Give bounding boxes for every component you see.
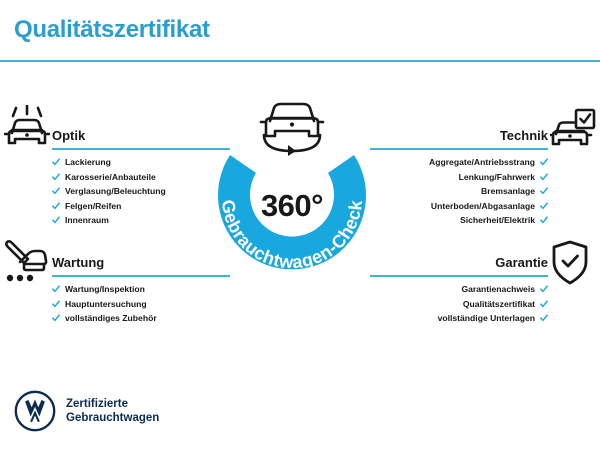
check-icon bbox=[52, 187, 60, 195]
section-garantie-title: Garantie bbox=[495, 255, 548, 270]
section-technik-title: Technik bbox=[500, 128, 548, 143]
section-technik-header: Technik bbox=[370, 128, 548, 143]
section-optik-title: Optik bbox=[52, 128, 85, 143]
check-icon bbox=[540, 173, 548, 181]
check-icon bbox=[540, 285, 548, 293]
list-item-label: vollständige Unterlagen bbox=[438, 313, 535, 323]
list-item: Qualitätszertifikat bbox=[370, 299, 548, 309]
shield-check-icon bbox=[550, 240, 590, 291]
list-item-label: Garantienachweis bbox=[461, 284, 535, 294]
check-icon bbox=[52, 202, 60, 210]
check-icon bbox=[52, 314, 60, 322]
list-item-label: vollständiges Zubehör bbox=[65, 313, 157, 323]
list-item: vollständige Unterlagen bbox=[370, 313, 548, 323]
page-title: Qualitätszertifikat bbox=[14, 16, 210, 44]
check-icon bbox=[52, 158, 60, 166]
section-garantie-items: Garantienachweis Qualitätszertifikat vol… bbox=[370, 284, 548, 323]
footer-brand-line2: Gebrauchtwagen bbox=[66, 411, 159, 425]
header-divider bbox=[0, 60, 600, 62]
section-technik: Technik Aggregate/Antriebsstrang Lenkung… bbox=[370, 128, 548, 225]
360-check-badge: Gebrauchtwagen-Check 360° bbox=[197, 103, 387, 293]
check-icon bbox=[540, 187, 548, 195]
check-icon bbox=[540, 216, 548, 224]
check-icon bbox=[540, 158, 548, 166]
footer-brand-text: Zertifizierte Gebrauchtwagen bbox=[66, 397, 159, 425]
check-icon bbox=[540, 300, 548, 308]
check-icon bbox=[540, 202, 548, 210]
section-technik-items: Aggregate/Antriebsstrang Lenkung/Fahrwer… bbox=[370, 157, 548, 225]
footer-brand: Zertifizierte Gebrauchtwagen bbox=[14, 390, 159, 432]
car-wrench-icon bbox=[4, 238, 48, 291]
vw-logo bbox=[14, 390, 56, 432]
certificate-page: Qualitätszertifikat Optik bbox=[0, 0, 600, 450]
check-icon bbox=[540, 314, 548, 322]
list-item: Unterboden/Abgasanlage bbox=[370, 201, 548, 211]
list-item-label: Karosserie/Anbauteile bbox=[65, 172, 156, 182]
list-item-label: Innenraum bbox=[65, 215, 109, 225]
list-item: Sicherheit/Elektrik bbox=[370, 215, 548, 225]
list-item: Hauptuntersuchung bbox=[52, 299, 230, 309]
check-icon bbox=[52, 173, 60, 181]
check-icon bbox=[52, 285, 60, 293]
list-item: Bremsanlage bbox=[370, 186, 548, 196]
footer-brand-line1: Zertifizierte bbox=[66, 397, 159, 411]
list-item-label: Qualitätszertifikat bbox=[463, 299, 535, 309]
check-icon bbox=[52, 300, 60, 308]
list-item-label: Unterboden/Abgasanlage bbox=[431, 201, 535, 211]
section-wartung-title: Wartung bbox=[52, 255, 104, 270]
list-item-label: Lenkung/Fahrwerk bbox=[459, 172, 535, 182]
section-garantie-header: Garantie bbox=[370, 255, 548, 270]
list-item: Lenkung/Fahrwerk bbox=[370, 172, 548, 182]
list-item: vollständiges Zubehör bbox=[52, 313, 230, 323]
section-garantie: Garantie Garantienachweis Qualitätszerti… bbox=[370, 255, 548, 323]
list-item-label: Verglasung/Beleuchtung bbox=[65, 186, 166, 196]
car-checkbox-icon bbox=[550, 108, 596, 159]
list-item-label: Aggregate/Antriebsstrang bbox=[429, 157, 535, 167]
list-item-label: Felgen/Reifen bbox=[65, 201, 121, 211]
section-technik-underline bbox=[370, 148, 548, 150]
section-garantie-underline bbox=[370, 275, 548, 277]
car-shine-icon bbox=[4, 105, 50, 158]
list-item-label: Sicherheit/Elektrik bbox=[460, 215, 535, 225]
check-icon bbox=[52, 216, 60, 224]
list-item-label: Wartung/Inspektion bbox=[65, 284, 145, 294]
list-item: Garantienachweis bbox=[370, 284, 548, 294]
list-item-label: Hauptuntersuchung bbox=[65, 299, 147, 309]
car-rotate-icon bbox=[248, 91, 336, 163]
list-item: Aggregate/Antriebsstrang bbox=[370, 157, 548, 167]
list-item-label: Bremsanlage bbox=[481, 186, 535, 196]
list-item-label: Lackierung bbox=[65, 157, 111, 167]
